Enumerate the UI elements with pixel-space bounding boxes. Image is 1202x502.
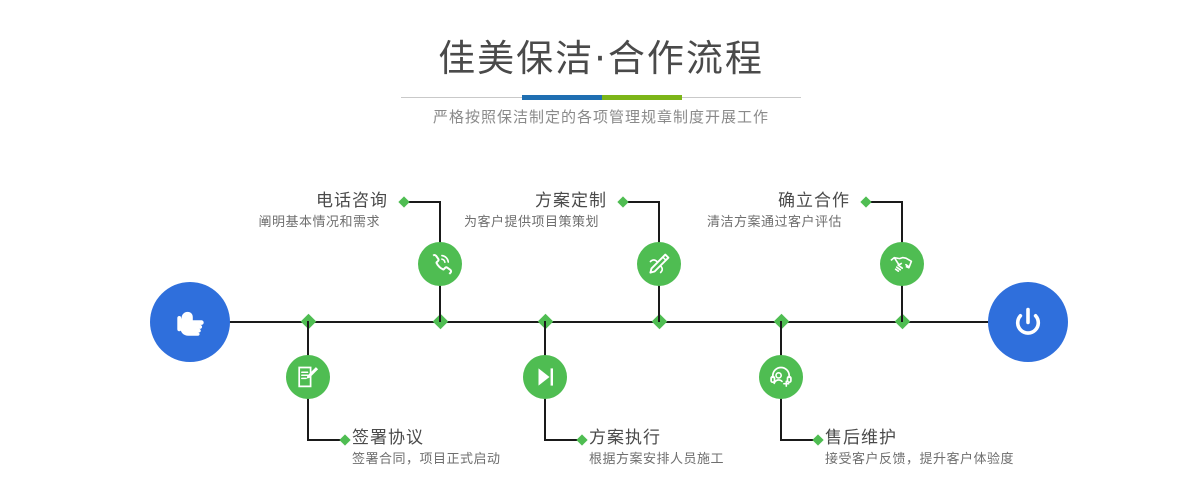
label-marker — [860, 196, 871, 207]
timeline-axis — [229, 321, 990, 323]
label-marker — [339, 434, 350, 445]
timeline-end-node[interactable] — [988, 282, 1068, 362]
document-edit-icon — [295, 364, 321, 390]
step-node-circle[interactable] — [759, 355, 803, 399]
step-node-circle[interactable] — [418, 242, 462, 286]
timeline-start-node[interactable] — [150, 282, 230, 362]
power-icon — [1006, 300, 1050, 344]
handshake-icon — [889, 251, 915, 277]
step-node-circle[interactable] — [880, 242, 924, 286]
customer-service-icon — [768, 364, 794, 390]
flow-diagram-page: 佳美保洁·合作流程 严格按照保洁制定的各项管理规章制度开展工作 — [0, 0, 1202, 502]
phone-call-icon — [427, 251, 453, 277]
step-desc: 清洁方案通过客户评估 — [250, 212, 850, 233]
pencil-design-icon — [646, 251, 672, 277]
step-desc: 签署合同，项目正式启动 — [352, 449, 501, 470]
step-title: 方案执行 — [589, 427, 724, 449]
step-title: 售后维护 — [825, 427, 1014, 449]
step-node-circle[interactable] — [637, 242, 681, 286]
step-node-circle[interactable] — [523, 355, 567, 399]
step-label: 方案执行 根据方案安排人员施工 — [589, 427, 724, 470]
process-timeline: 签署协议 签署合同，项目正式启动 电话咨询 阐明基本情况和需求 — [0, 0, 1202, 502]
step-title: 确立合作 — [250, 190, 850, 212]
step-desc: 接受客户反馈，提升客户体验度 — [825, 449, 1014, 470]
step-title: 签署协议 — [352, 427, 501, 449]
pointing-hand-icon — [168, 300, 212, 344]
label-marker — [812, 434, 823, 445]
step-node-circle[interactable] — [286, 355, 330, 399]
step-label: 售后维护 接受客户反馈，提升客户体验度 — [825, 427, 1014, 470]
step-label: 签署协议 签署合同，项目正式启动 — [352, 427, 501, 470]
play-execute-icon — [532, 364, 558, 390]
step-label: 确立合作 清洁方案通过客户评估 — [250, 190, 850, 233]
label-marker — [576, 434, 587, 445]
step-desc: 根据方案安排人员施工 — [589, 449, 724, 470]
